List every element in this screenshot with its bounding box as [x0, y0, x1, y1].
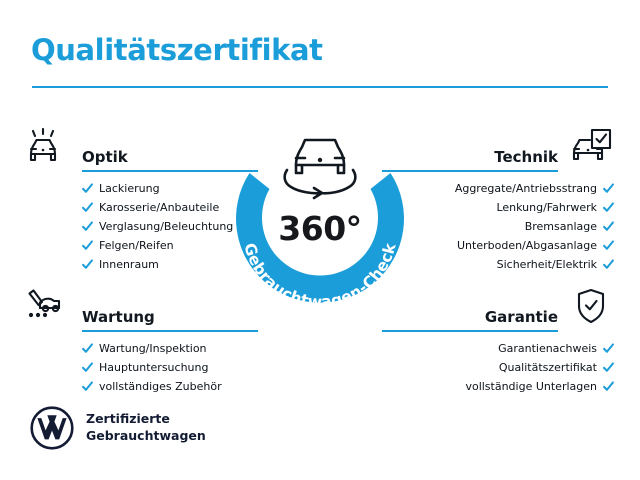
- check-icon: [82, 183, 93, 194]
- list-item: Garantienachweis: [382, 343, 614, 354]
- list-item-label: vollständige Unterlagen: [465, 381, 597, 392]
- section-wartung-divider: [82, 330, 258, 332]
- list-item: Unterboden/Abgasanlage: [382, 240, 614, 251]
- list-item-label: Wartung/Inspektion: [99, 343, 207, 354]
- list-item: Bremsanlage: [382, 221, 614, 232]
- section-technik-list: Aggregate/Antriebsstrang Lenkung/Fahrwer…: [382, 174, 614, 270]
- car-rotation-icon: [285, 140, 356, 198]
- list-item-label: Garantienachweis: [498, 343, 597, 354]
- section-garantie: Garantie Garantienachweis Qualitätszerti…: [382, 288, 614, 392]
- check-icon: [603, 259, 614, 270]
- 360-check-badge: Gebrauchtwagen-Check 360°: [225, 112, 415, 312]
- list-item-label: vollständiges Zubehör: [99, 381, 222, 392]
- list-item: Sicherheit/Elektrik: [382, 259, 614, 270]
- check-icon: [82, 259, 93, 270]
- list-item: Aggregate/Antriebsstrang: [382, 183, 614, 194]
- check-icon: [82, 381, 93, 392]
- list-item-label: Unterboden/Abgasanlage: [457, 240, 597, 251]
- list-item-label: Lenkung/Fahrwerk: [496, 202, 597, 213]
- section-technik-header: Technik: [382, 128, 614, 174]
- check-icon: [603, 240, 614, 251]
- check-icon: [82, 362, 93, 373]
- footer-brand-text: Zertifizierte Gebrauchtwagen: [86, 411, 206, 445]
- list-item-label: Felgen/Reifen: [99, 240, 174, 251]
- list-item: Wartung/Inspektion: [26, 343, 258, 354]
- section-optik-list: Lackierung Karosserie/Anbauteile Verglas…: [26, 174, 258, 270]
- section-garantie-list: Garantienachweis Qualitätszertifikat vol…: [382, 334, 614, 392]
- page-title: Qualitätszertifikat: [31, 33, 323, 67]
- list-item-label: Sicherheit/Elektrik: [497, 259, 597, 270]
- list-item: vollständiges Zubehör: [26, 381, 258, 392]
- section-optik: Optik Lackierung Karosserie/Anbauteile: [26, 128, 258, 270]
- volkswagen-logo: [30, 406, 74, 450]
- list-item: Lenkung/Fahrwerk: [382, 202, 614, 213]
- shield-check-icon: [568, 288, 614, 330]
- section-technik: Technik Aggregate/Antriebsstrang Lenkung…: [382, 128, 614, 270]
- title-divider: [32, 86, 608, 88]
- column-right: Technik Aggregate/Antriebsstrang Lenkung…: [382, 128, 614, 400]
- list-item-label: Verglasung/Beleuchtung: [99, 221, 233, 232]
- section-technik-title: Technik: [494, 148, 558, 166]
- check-icon: [603, 221, 614, 232]
- list-item-label: Lackierung: [99, 183, 160, 194]
- section-optik-header: Optik: [26, 128, 258, 174]
- check-icon: [603, 381, 614, 392]
- section-optik-title: Optik: [82, 148, 128, 166]
- car-service-tool-icon: [26, 288, 72, 330]
- list-item-label: Qualitätszertifikat: [499, 362, 597, 373]
- section-wartung: Wartung Wartung/Inspektion Hauptuntersuc…: [26, 288, 258, 392]
- list-item-label: Bremsanlage: [525, 221, 597, 232]
- list-item-label: Karosserie/Anbauteile: [99, 202, 219, 213]
- check-icon: [82, 343, 93, 354]
- car-shine-icon: [26, 128, 72, 170]
- list-item: Hauptuntersuchung: [26, 362, 258, 373]
- list-item-label: Innenraum: [99, 259, 159, 270]
- section-garantie-divider: [382, 330, 558, 332]
- column-left: Optik Lackierung Karosserie/Anbauteile: [26, 128, 258, 400]
- check-icon: [603, 343, 614, 354]
- list-item: Felgen/Reifen: [26, 240, 258, 251]
- section-wartung-list: Wartung/Inspektion Hauptuntersuchung vol…: [26, 334, 258, 392]
- section-garantie-header: Garantie: [382, 288, 614, 334]
- check-icon: [82, 240, 93, 251]
- list-item: Lackierung: [26, 183, 258, 194]
- check-icon: [603, 183, 614, 194]
- list-item: Verglasung/Beleuchtung: [26, 221, 258, 232]
- section-garantie-title: Garantie: [485, 308, 558, 326]
- list-item: Karosserie/Anbauteile: [26, 202, 258, 213]
- list-item-label: Aggregate/Antriebsstrang: [455, 183, 597, 194]
- list-item: Qualitätszertifikat: [382, 362, 614, 373]
- section-wartung-title: Wartung: [82, 308, 155, 326]
- list-item: vollständige Unterlagen: [382, 381, 614, 392]
- car-checkbox-icon: [568, 128, 614, 170]
- list-item-label: Hauptuntersuchung: [99, 362, 208, 373]
- check-icon: [82, 221, 93, 232]
- footer-brand: Zertifizierte Gebrauchtwagen: [30, 406, 206, 450]
- check-icon: [82, 202, 93, 213]
- check-icon: [603, 202, 614, 213]
- certificate-page: Qualitätszertifikat: [0, 0, 640, 480]
- section-wartung-header: Wartung: [26, 288, 258, 334]
- check-icon: [603, 362, 614, 373]
- list-item: Innenraum: [26, 259, 258, 270]
